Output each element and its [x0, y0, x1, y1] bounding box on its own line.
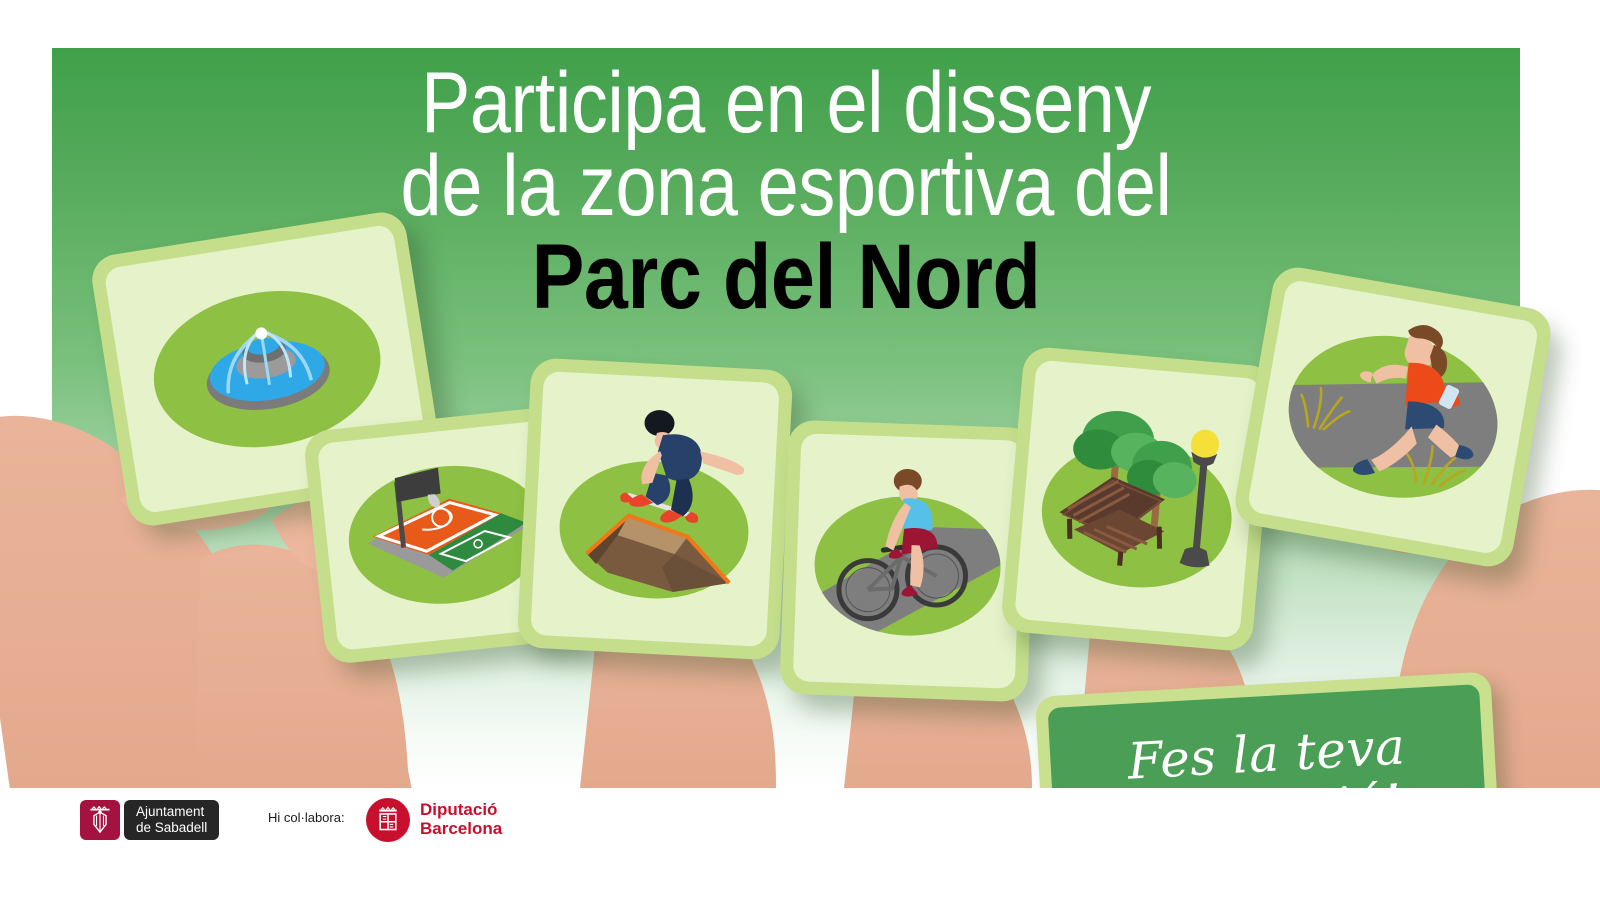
card-face: [1014, 360, 1262, 639]
diputacio-line-1: Diputació: [420, 801, 502, 820]
card-running-path[interactable]: [1231, 264, 1554, 571]
sabadell-shield-icon: [87, 806, 113, 834]
collaborator-label: Hi col·labora:: [268, 810, 345, 825]
logo-diputacio-barcelona[interactable]: Diputació Barcelona: [366, 798, 502, 842]
runner-icon: [1246, 279, 1539, 556]
diputacio-shield-icon: [375, 806, 401, 834]
card-skate-ramp[interactable]: [517, 357, 794, 660]
card-bike-path[interactable]: [779, 420, 1036, 702]
poster-canvas: Participa en el disseny de la zona espor…: [0, 0, 1600, 900]
ajuntament-line-2: de Sabadell: [136, 820, 207, 836]
ajuntament-name-box: Ajuntament de Sabadell: [124, 800, 219, 840]
card-face: [793, 433, 1024, 689]
diputacio-crest-icon: [366, 798, 410, 842]
card-face: [530, 371, 779, 647]
ajuntament-line-1: Ajuntament: [136, 804, 207, 820]
skate-ramp-icon: [530, 371, 779, 647]
cyclist-icon: [793, 433, 1024, 689]
diputacio-name: Diputació Barcelona: [420, 801, 502, 838]
sabadell-crest-icon: [80, 800, 120, 840]
card-face: [1246, 279, 1539, 556]
park-bench-icon: [1014, 360, 1262, 639]
logo-ajuntament-sabadell[interactable]: Ajuntament de Sabadell: [80, 800, 219, 840]
footer-logos: Ajuntament de Sabadell Hi col·labora: Di…: [0, 788, 1600, 900]
diputacio-line-2: Barcelona: [420, 820, 502, 839]
